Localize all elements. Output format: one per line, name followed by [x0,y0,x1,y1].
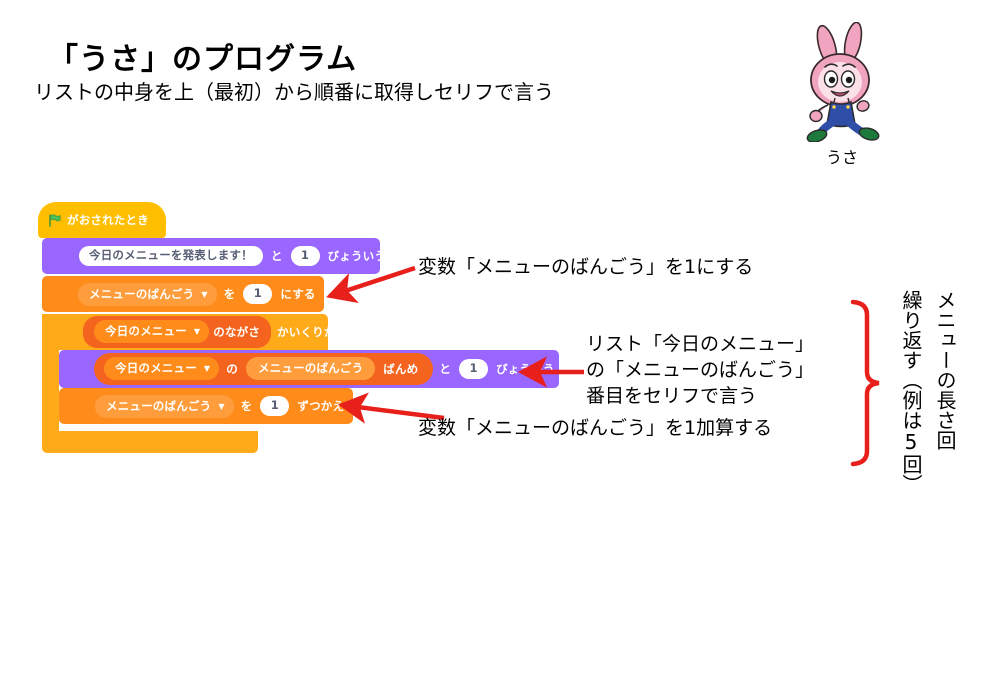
annotation-say-item-line3: 番目をセリフで言う [586,383,814,409]
annotation-say-item-line1: リスト「今日のメニュー」 [586,331,814,357]
annotation-repeat-count-vertical: メニューの長さ回 [934,290,956,450]
annotation-repeat-note-vertical: 繰り返す（例は5回） [900,290,922,494]
annotation-change-variable: 変数「メニューのばんごう」を1加算する [418,415,772,441]
annotation-say-item-line2: の「メニューのばんごう」 [586,357,814,383]
arrow-to-set-variable [330,268,415,296]
repeat-range-brace [853,302,879,464]
annotation-arrows-layer [0,0,1000,692]
annotation-say-item: リスト「今日のメニュー」 の「メニューのばんごう」 番目をセリフで言う [586,331,814,409]
annotation-set-variable: 変数「メニューのばんごう」を1にする [418,254,753,280]
